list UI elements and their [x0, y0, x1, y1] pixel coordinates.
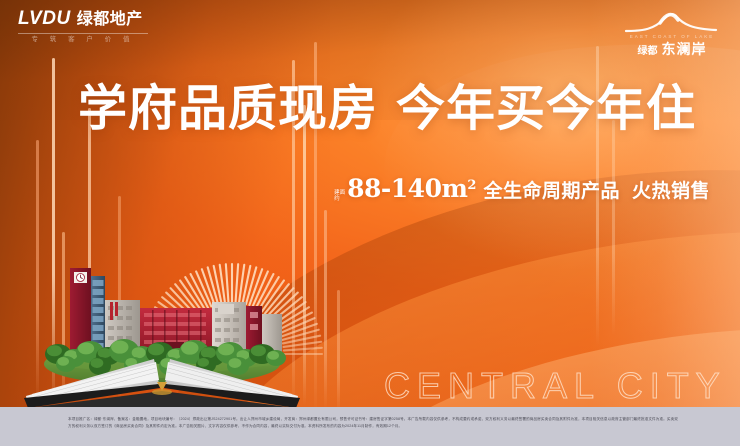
subheadline-status: 火热销售: [632, 182, 710, 201]
decorative-line: [337, 290, 340, 415]
brand-logo-tagline: 专 筑 客 户 价 值: [18, 37, 148, 44]
book-campus-illustration: [22, 246, 304, 416]
brand-logo-latin: LVDU: [18, 9, 71, 28]
decorative-line: [612, 120, 615, 335]
subheadline-prefix-line2: 约: [334, 196, 345, 202]
project-logo-names: 绿都 东澜岸: [620, 42, 724, 57]
wave-mountain-icon: [620, 8, 724, 34]
footer-bar: 本项目推广名：绿都·东澜岸，备案名：金融置地，项目地块编号：（2024）郑政出让…: [0, 407, 740, 446]
advertisement-banner: LVDU 绿都地产 专 筑 客 户 价 值 EAST COAST OF LAKE…: [0, 0, 740, 446]
brand-logo-left: LVDU 绿都地产 专 筑 客 户 价 值: [18, 9, 148, 44]
project-logo-pinyin: EAST COAST OF LAKE: [620, 35, 724, 40]
brand-logo-divider: [18, 33, 148, 34]
headline-part-2: 今年买今年住: [396, 79, 696, 137]
brand-logo-left-row: LVDU 绿都地产: [18, 9, 148, 28]
decorative-line: [324, 210, 327, 410]
watermark-text: CENTRAL CITY: [384, 368, 727, 404]
project-logo-brand: 绿都: [638, 47, 658, 57]
subheadline-area: 88-140m: [347, 176, 467, 201]
page-title: 学府品质现房今年买今年住: [78, 84, 696, 133]
subheadline: 建面 约 88-140m2 全生命周期产品 火热销售: [334, 176, 710, 206]
subheadline-area-superscript: 2: [467, 179, 476, 192]
project-logo-right: EAST COAST OF LAKE 绿都 东澜岸: [620, 8, 724, 57]
legal-disclaimer: 本项目推广名：绿都·东澜岸，备案名：金融置地，项目地块编号：（2024）郑政出让…: [68, 416, 678, 429]
brand-logo-chinese: 绿都地产: [77, 12, 143, 28]
subheadline-prefix: 建面 约: [334, 190, 345, 203]
project-logo-name: 东澜岸: [662, 42, 707, 56]
headline-part-1: 学府品质现房: [78, 79, 378, 137]
subheadline-feature: 全生命周期产品: [483, 182, 620, 201]
